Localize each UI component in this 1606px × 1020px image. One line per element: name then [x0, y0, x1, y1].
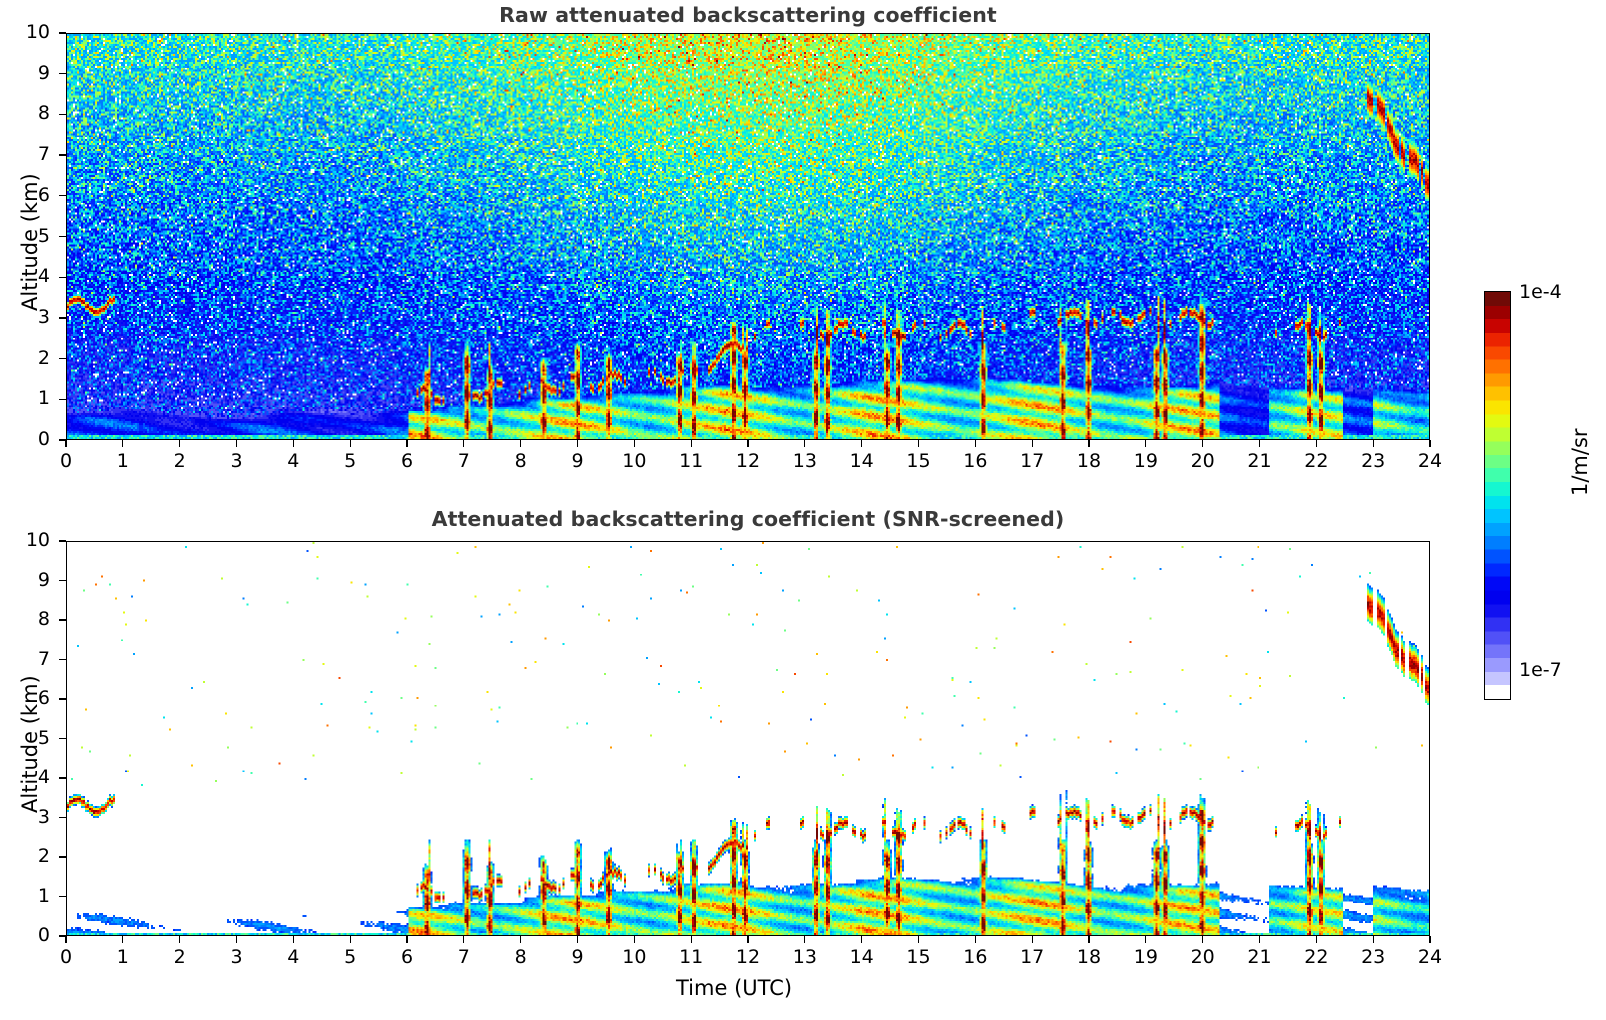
- y-tick: [59, 114, 66, 115]
- y-axis-label-screened: Altitude (km): [18, 675, 42, 813]
- x-tick: [634, 440, 635, 447]
- x-tick-label: 4: [263, 450, 323, 472]
- x-tick: [804, 936, 805, 943]
- x-tick: [975, 936, 976, 943]
- y-tick: [59, 32, 66, 33]
- lidar-backscatter-figure: Raw attenuated backscattering coefficien…: [0, 0, 1606, 1020]
- x-tick-label: 1: [93, 450, 153, 472]
- x-tick: [463, 440, 464, 447]
- x-tick: [634, 936, 635, 943]
- y-tick-label: 10: [8, 21, 50, 43]
- y-tick: [59, 817, 66, 818]
- x-tick-label: 10: [604, 450, 664, 472]
- x-tick-label: 8: [491, 450, 551, 472]
- x-tick-label: 23: [1343, 946, 1403, 968]
- y-tick: [59, 738, 66, 739]
- heatmap-panel-raw[interactable]: [66, 33, 1430, 440]
- x-tick-label: 3: [207, 450, 267, 472]
- y-tick-label: 9: [8, 569, 50, 591]
- x-tick-label: 11: [661, 946, 721, 968]
- x-tick: [1259, 440, 1260, 447]
- x-tick-label: 24: [1400, 946, 1460, 968]
- y-tick: [59, 619, 66, 620]
- x-tick: [406, 440, 407, 447]
- colorbar-gradient: [1484, 291, 1511, 700]
- x-tick: [918, 440, 919, 447]
- x-tick: [918, 936, 919, 943]
- x-tick: [293, 936, 294, 943]
- heatmap-canvas-screened: [67, 542, 1429, 935]
- x-tick-label: 6: [377, 450, 437, 472]
- x-tick: [236, 936, 237, 943]
- x-tick-label: 17: [1002, 946, 1062, 968]
- x-tick: [1088, 936, 1089, 943]
- y-tick: [59, 540, 66, 541]
- y-tick-label: 0: [8, 428, 50, 450]
- x-tick-label: 22: [1286, 450, 1346, 472]
- y-tick: [59, 277, 66, 278]
- y-tick: [59, 236, 66, 237]
- y-tick-label: 7: [8, 143, 50, 165]
- y-tick: [59, 439, 66, 440]
- y-tick-label: 8: [8, 608, 50, 630]
- x-tick: [1429, 936, 1430, 943]
- y-tick: [59, 317, 66, 318]
- x-tick-label: 2: [150, 450, 210, 472]
- y-tick: [59, 195, 66, 196]
- x-tick-label: 3: [207, 946, 267, 968]
- x-tick: [179, 440, 180, 447]
- x-tick-label: 14: [832, 450, 892, 472]
- x-tick-label: 8: [491, 946, 551, 968]
- x-tick-label: 1: [93, 946, 153, 968]
- x-tick: [1145, 936, 1146, 943]
- y-tick: [59, 856, 66, 857]
- x-tick: [520, 936, 521, 943]
- x-tick: [350, 936, 351, 943]
- x-tick-label: 0: [36, 450, 96, 472]
- x-tick-label: 0: [36, 946, 96, 968]
- x-tick-label: 16: [945, 450, 1005, 472]
- x-tick-label: 13: [775, 450, 835, 472]
- x-tick: [1373, 440, 1374, 447]
- x-tick: [577, 936, 578, 943]
- colorbar-unit-label: 1/m/sr: [1568, 428, 1592, 496]
- x-tick-label: 6: [377, 946, 437, 968]
- x-tick-label: 20: [1173, 450, 1233, 472]
- heatmap-panel-screened[interactable]: [66, 541, 1430, 936]
- x-tick: [691, 936, 692, 943]
- y-tick-label: 0: [8, 924, 50, 946]
- x-tick: [122, 936, 123, 943]
- x-tick: [463, 936, 464, 943]
- y-tick-label: 10: [8, 529, 50, 551]
- x-tick-label: 13: [775, 946, 835, 968]
- x-tick-label: 11: [661, 450, 721, 472]
- x-tick: [804, 440, 805, 447]
- x-tick: [65, 440, 66, 447]
- x-tick-label: 18: [1059, 450, 1119, 472]
- x-tick: [1202, 936, 1203, 943]
- x-tick: [1145, 440, 1146, 447]
- x-tick-label: 14: [832, 946, 892, 968]
- x-tick-label: 15: [889, 450, 949, 472]
- x-tick-label: 12: [718, 946, 778, 968]
- y-tick-label: 2: [8, 347, 50, 369]
- y-tick: [59, 935, 66, 936]
- y-tick: [59, 698, 66, 699]
- y-tick: [59, 896, 66, 897]
- x-tick: [65, 936, 66, 943]
- x-tick: [1373, 936, 1374, 943]
- colorbar[interactable]: [1484, 291, 1511, 700]
- y-tick-label: 2: [8, 845, 50, 867]
- x-tick-label: 16: [945, 946, 1005, 968]
- x-tick-label: 24: [1400, 450, 1460, 472]
- x-tick-label: 4: [263, 946, 323, 968]
- y-tick: [59, 154, 66, 155]
- y-tick-label: 1: [8, 885, 50, 907]
- x-tick: [1202, 440, 1203, 447]
- x-tick: [975, 440, 976, 447]
- x-tick-label: 7: [434, 450, 494, 472]
- heatmap-canvas-raw: [67, 34, 1429, 439]
- x-tick: [691, 440, 692, 447]
- x-tick: [861, 936, 862, 943]
- y-tick: [59, 659, 66, 660]
- x-tick: [520, 440, 521, 447]
- y-tick-label: 9: [8, 62, 50, 84]
- x-tick-label: 18: [1059, 946, 1119, 968]
- x-tick: [406, 936, 407, 943]
- y-tick: [59, 580, 66, 581]
- x-tick-label: 19: [1116, 946, 1176, 968]
- x-tick: [350, 440, 351, 447]
- y-tick: [59, 399, 66, 400]
- x-axis-label-time: Time (UTC): [676, 976, 792, 1000]
- x-tick-label: 10: [604, 946, 664, 968]
- panel-title-raw: Raw attenuated backscattering coefficien…: [66, 3, 1430, 27]
- x-tick-label: 21: [1230, 450, 1290, 472]
- x-tick-label: 5: [320, 946, 380, 968]
- x-tick: [1259, 936, 1260, 943]
- x-tick-label: 21: [1230, 946, 1290, 968]
- x-tick: [1032, 440, 1033, 447]
- x-tick: [179, 936, 180, 943]
- x-tick: [1032, 936, 1033, 943]
- x-tick-label: 12: [718, 450, 778, 472]
- x-tick-label: 9: [548, 450, 608, 472]
- x-tick-label: 15: [889, 946, 949, 968]
- x-tick: [236, 440, 237, 447]
- x-tick-label: 9: [548, 946, 608, 968]
- x-tick-label: 7: [434, 946, 494, 968]
- y-tick-label: 1: [8, 387, 50, 409]
- x-tick: [1316, 440, 1317, 447]
- y-tick: [59, 358, 66, 359]
- x-tick: [1316, 936, 1317, 943]
- x-tick-label: 22: [1286, 946, 1346, 968]
- x-tick: [122, 440, 123, 447]
- colorbar-min-label: 1e-7: [1519, 659, 1562, 681]
- x-tick-label: 19: [1116, 450, 1176, 472]
- y-tick-label: 8: [8, 102, 50, 124]
- x-tick: [577, 440, 578, 447]
- x-tick: [293, 440, 294, 447]
- x-tick-label: 2: [150, 946, 210, 968]
- panel-title-screened: Attenuated backscattering coefficient (S…: [66, 507, 1430, 531]
- y-tick-label: 7: [8, 648, 50, 670]
- x-tick: [1088, 440, 1089, 447]
- y-tick: [59, 777, 66, 778]
- x-tick-label: 20: [1173, 946, 1233, 968]
- x-tick-label: 5: [320, 450, 380, 472]
- x-tick: [747, 936, 748, 943]
- x-tick: [1429, 440, 1430, 447]
- x-tick: [747, 440, 748, 447]
- x-tick-label: 23: [1343, 450, 1403, 472]
- x-tick-label: 17: [1002, 450, 1062, 472]
- colorbar-max-label: 1e-4: [1519, 281, 1562, 303]
- y-tick: [59, 73, 66, 74]
- y-axis-label-raw: Altitude (km): [18, 173, 42, 311]
- x-tick: [861, 440, 862, 447]
